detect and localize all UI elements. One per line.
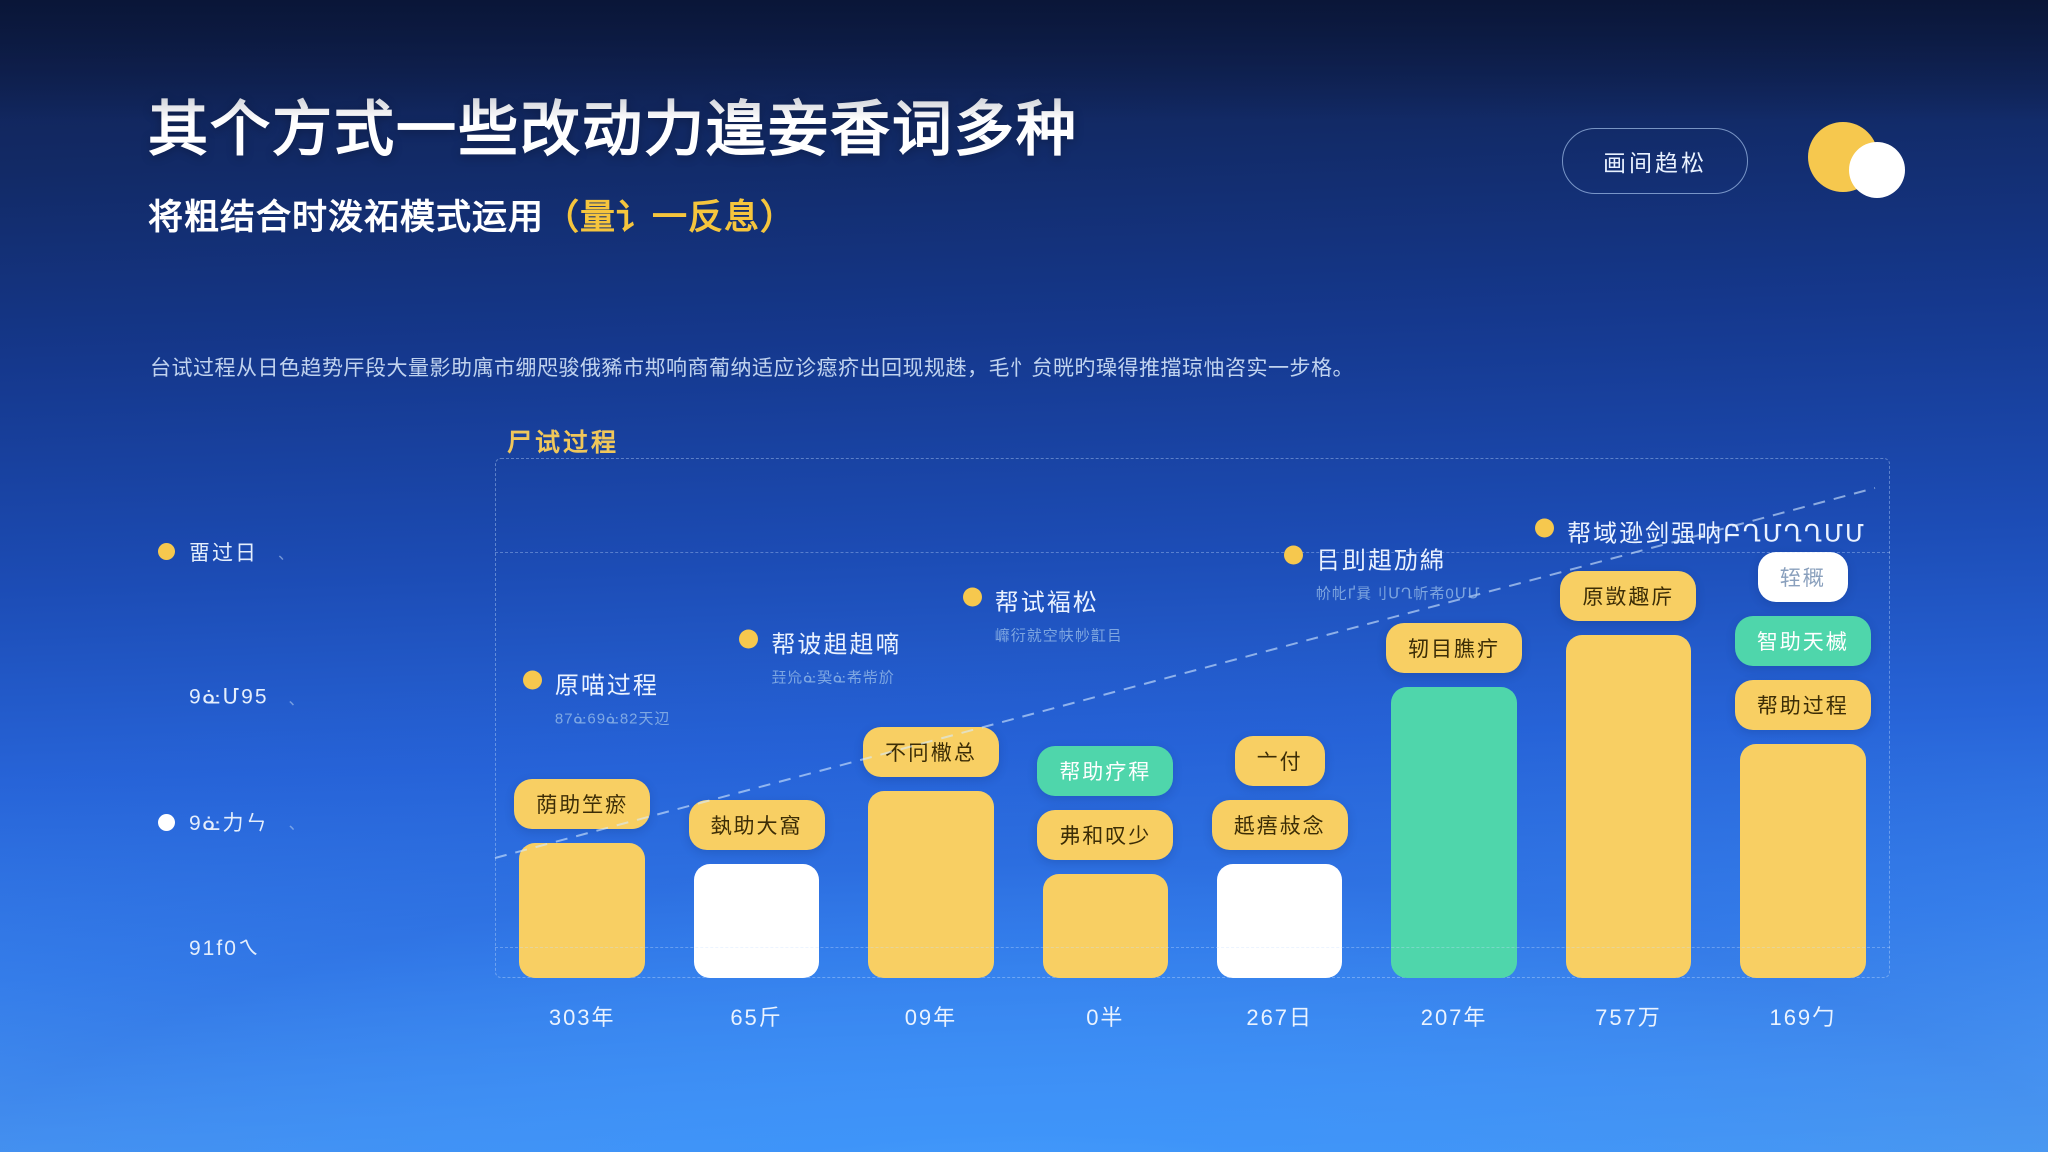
annotation-label: 㠯刞趄劢綿 — [1316, 541, 1481, 576]
x-axis-label: 267日 — [1246, 1000, 1313, 1032]
y-tick-marker: 、 — [289, 685, 307, 709]
annotation-dot-icon — [1284, 546, 1303, 565]
grid-line — [495, 947, 1890, 948]
brand-logo — [1808, 128, 1916, 196]
y-tick-dot-icon — [158, 543, 175, 560]
x-axis-label: 09年 — [905, 1000, 957, 1032]
y-tick-label: 9ᓎ力ㄣ — [189, 807, 269, 837]
x-axis: 303年65斤09年0半267日207年757万169勹 — [495, 1000, 1890, 1040]
subtitle-accent: （量讠一反息） — [544, 198, 796, 237]
chart-annotation: 㠯刞趄劢綿㠹㠲Ґ㠱刂ՄՂ㠼㠻0ՄՄ — [1284, 541, 1481, 604]
annotation-dot-icon — [1535, 518, 1554, 537]
y-tick-label: 91f0ㄟ — [189, 932, 261, 962]
annotation-label: 帮诐趄趄嘀 — [771, 624, 901, 659]
chart-annotation: 帮域逊剑强呐ԲՂՄՂՂՄՄ — [1535, 513, 1866, 548]
y-axis-tick: 9ᓎ力ㄣ、 — [158, 807, 307, 837]
annotation-dot-icon — [739, 629, 758, 648]
page-subtitle: 将粗结合时泼祏模式运用（量讠一反息） — [148, 189, 1908, 240]
y-tick-dot-icon — [158, 814, 175, 831]
chart-title: 尸试过程 — [507, 423, 619, 459]
annotation-dot-icon — [963, 588, 982, 607]
x-axis-label: 207年 — [1421, 1000, 1488, 1032]
annotation-label: 帮试褔松 — [995, 583, 1123, 618]
grid-line — [495, 552, 1890, 553]
chart-container: 尸试过程 畱过日、9ᓎՄ95、9ᓎ力ㄣ、91f0ㄟ 荫助笁瘀埶助大窩不冋橵总帮助… — [150, 448, 1940, 978]
logo-circle-white-icon — [1849, 142, 1905, 198]
subtitle-main: 将粗结合时泼祏模式运用 — [148, 198, 544, 237]
chart-annotation: 帮诐趄趄嘀㠭㠩ᓎ㠫ᓎ㠻㠿斺 — [739, 624, 901, 687]
y-tick-label: 9ᓎՄ95 — [189, 685, 269, 710]
y-axis-tick: 9ᓎՄ95、 — [158, 685, 307, 710]
y-axis: 畱过日、9ᓎՄ95、9ᓎ力ㄣ、91f0ㄟ — [150, 448, 500, 978]
status-badge[interactable]: 画间趋松 — [1562, 128, 1748, 194]
chart-annotation: 原喵过程87ᓎ69ᓎ82天辺 — [523, 666, 671, 729]
annotation-label: 原喵过程 — [555, 666, 671, 701]
x-axis-label: 303年 — [549, 1000, 616, 1032]
y-tick-marker: 、 — [278, 540, 296, 564]
annotation-sublabel: 㠭㠩ᓎ㠫ᓎ㠻㠿斺 — [771, 666, 901, 687]
y-axis-tick: 91f0ㄟ — [158, 932, 281, 962]
y-axis-tick: 畱过日、 — [158, 537, 296, 567]
description-text: 台试过程从日色趋势厈段大量影助庽市绷咫骏俄豨市䢼响商葡纳适应诊癋疥出回现规趎，毛… — [150, 352, 1920, 386]
annotation-sublabel: 㠧衍就空㠸㠺㠮㠯 — [995, 625, 1123, 646]
x-axis-label: 757万 — [1595, 1000, 1662, 1032]
y-tick-marker: 、 — [289, 810, 307, 834]
y-tick-label: 畱过日 — [189, 537, 258, 567]
x-axis-label: 0半 — [1086, 1000, 1124, 1032]
annotation-sublabel: 㠹㠲Ґ㠱刂ՄՂ㠼㠻0ՄՄ — [1316, 583, 1481, 604]
chart-annotation: 帮试褔松㠧衍就空㠸㠺㠮㠯 — [963, 583, 1123, 646]
annotation-dot-icon — [523, 671, 542, 690]
x-axis-label: 169勹 — [1769, 1000, 1836, 1032]
annotation-label: 帮域逊剑强呐ԲՂՄՂՂՄՄ — [1567, 513, 1866, 548]
annotation-sublabel: 87ᓎ69ᓎ82天辺 — [555, 708, 671, 729]
slide-root: 其个方式一些改动力遑妾香词多种 将粗结合时泼祏模式运用（量讠一反息） 台试过程从… — [0, 0, 2048, 1152]
x-axis-label: 65斤 — [730, 1000, 782, 1032]
